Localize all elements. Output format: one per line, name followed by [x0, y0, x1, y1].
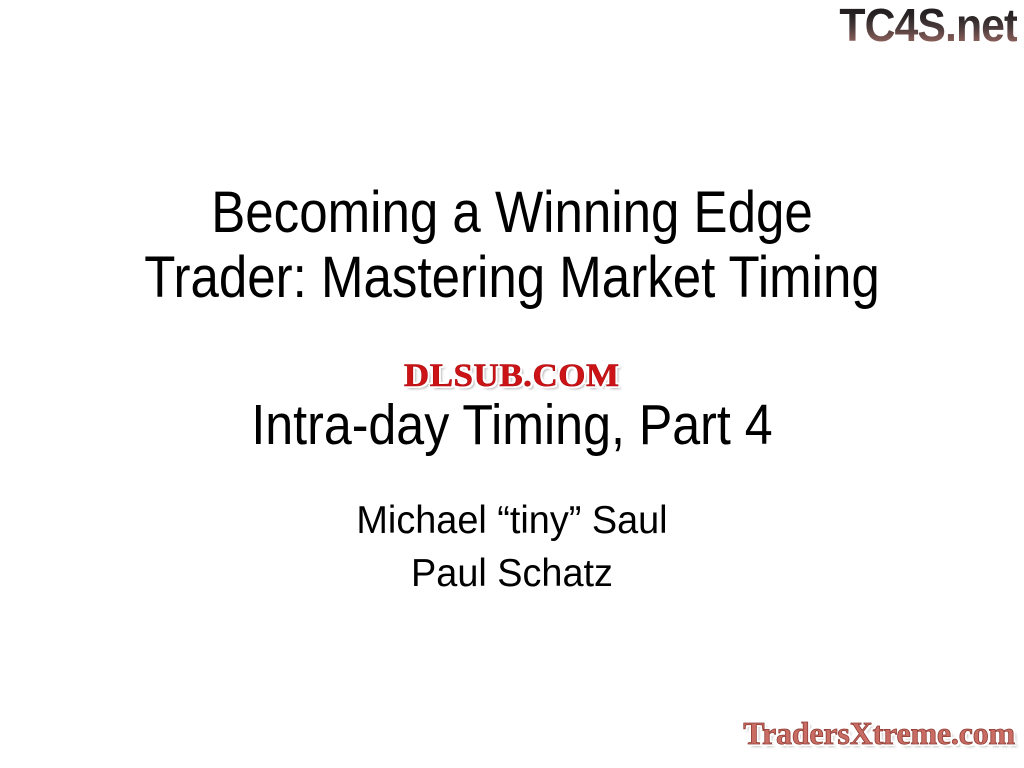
- dlsub-watermark: DLSUB.COM: [0, 358, 1024, 394]
- title-line-1: Becoming a Winning Edge: [61, 180, 962, 245]
- presenter-name-1: Michael “tiny” Saul: [15, 494, 1008, 547]
- presentation-slide: TC4S.net Becoming a Winning Edge Trader:…: [0, 0, 1024, 768]
- dlsub-watermark-text: DLSUB.COM: [404, 358, 620, 394]
- title-line-2: Trader: Mastering Market Timing: [61, 245, 962, 310]
- tradersxtreme-site-logo: TradersXtreme.com: [743, 716, 1015, 750]
- slide-presenters: Michael “tiny” Saul Paul Schatz: [0, 494, 1024, 600]
- presenter-name-2: Paul Schatz: [15, 547, 1008, 600]
- subtitle-line-1: Intra-day Timing, Part 4: [61, 393, 962, 458]
- slide-subtitle: Intra-day Timing, Part 4: [0, 393, 1024, 458]
- tc4s-site-logo: TC4S.net: [839, 2, 1017, 48]
- slide-title: Becoming a Winning Edge Trader: Masterin…: [0, 180, 1024, 310]
